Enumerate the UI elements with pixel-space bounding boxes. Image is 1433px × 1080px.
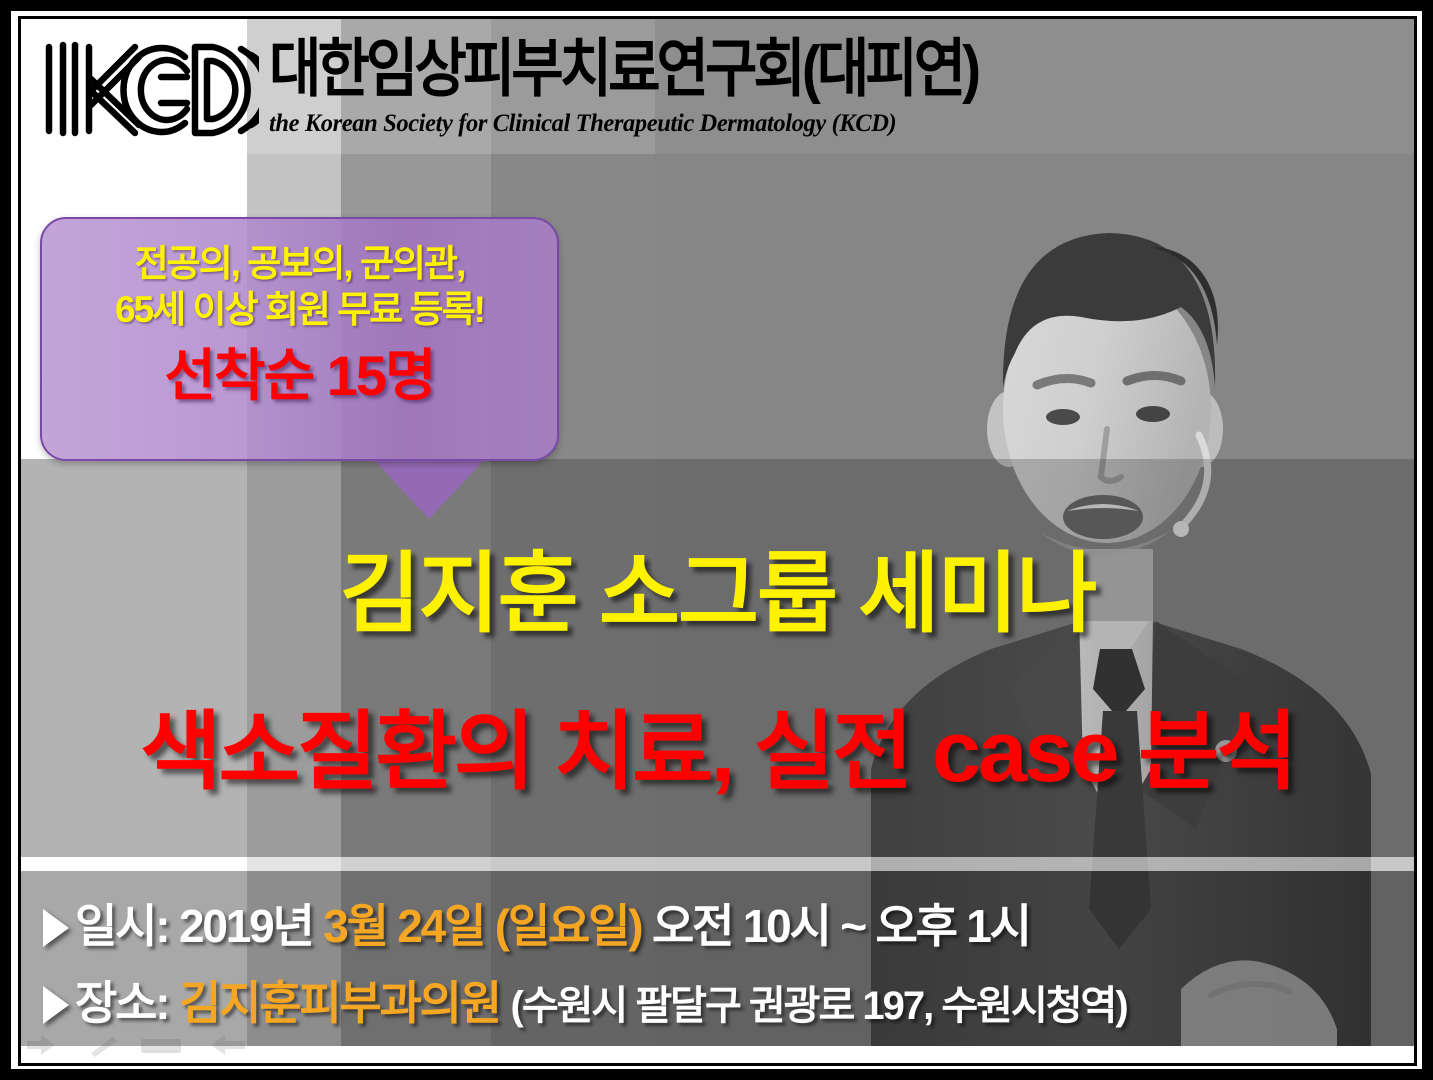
organization-name-korean: 대한임상피부치료연구회(대피연) [269, 36, 1414, 101]
venue-label: 장소: [75, 980, 168, 1026]
seminar-poster: 대한임상피부치료연구회(대피연) the Korean Society for … [0, 0, 1433, 1080]
triangle-bullet-icon [43, 909, 69, 947]
venue-name: 김지훈피부과의원 [179, 980, 500, 1026]
date-year: 2019년 [179, 903, 313, 949]
kcd-logo-icon [35, 33, 259, 145]
kcd-logo [33, 29, 261, 149]
date-time: 오전 10시 ~ 오후 1시 [652, 903, 1030, 949]
detail-row-date: 일시: 2019년 3월 24일 (일요일) 오전 10시 ~ 오후 1시 [21, 903, 1414, 949]
seminar-subtitle: 색소질환의 치료, 실전 case 분석 [21, 705, 1414, 800]
date-label: 일시: [75, 903, 168, 949]
promo-bubble-line-1: 전공의, 공보의, 군의관, [42, 241, 557, 287]
poster-header: 대한임상피부치료연구회(대피연) the Korean Society for … [21, 19, 1414, 159]
seminar-details: 일시: 2019년 3월 24일 (일요일) 오전 10시 ~ 오후 1시 장소… [21, 881, 1414, 1026]
triangle-bullet-icon [43, 986, 69, 1024]
detail-row-venue: 장소: 김지훈피부과의원 (수원시 팔달구 권광로 197, 수원시청역) [21, 980, 1414, 1026]
organization-titles: 대한임상피부치료연구회(대피연) the Korean Society for … [269, 40, 1414, 138]
organization-name-english: the Korean Society for Clinical Therapeu… [269, 108, 1368, 138]
promo-bubble-tail [373, 459, 485, 519]
promo-bubble: 전공의, 공보의, 군의관, 65세 이상 회원 무료 등록! 선착순 15명 [40, 217, 559, 461]
date-highlight: 3월 24일 (일요일) [323, 903, 641, 949]
seminar-title: 김지훈 소그룹 세미나 [21, 546, 1414, 643]
watermark-icons [21, 1031, 381, 1061]
venue-address: (수원시 팔달구 권광로 197, 수원시청역) [511, 986, 1127, 1026]
poster-canvas: 대한임상피부치료연구회(대피연) the Korean Society for … [21, 19, 1414, 1063]
promo-bubble-line-2: 65세 이상 회원 무료 등록! [42, 287, 557, 333]
info-bar-divider-left [21, 857, 247, 871]
promo-bubble-highlight: 선착순 15명 [42, 347, 557, 406]
